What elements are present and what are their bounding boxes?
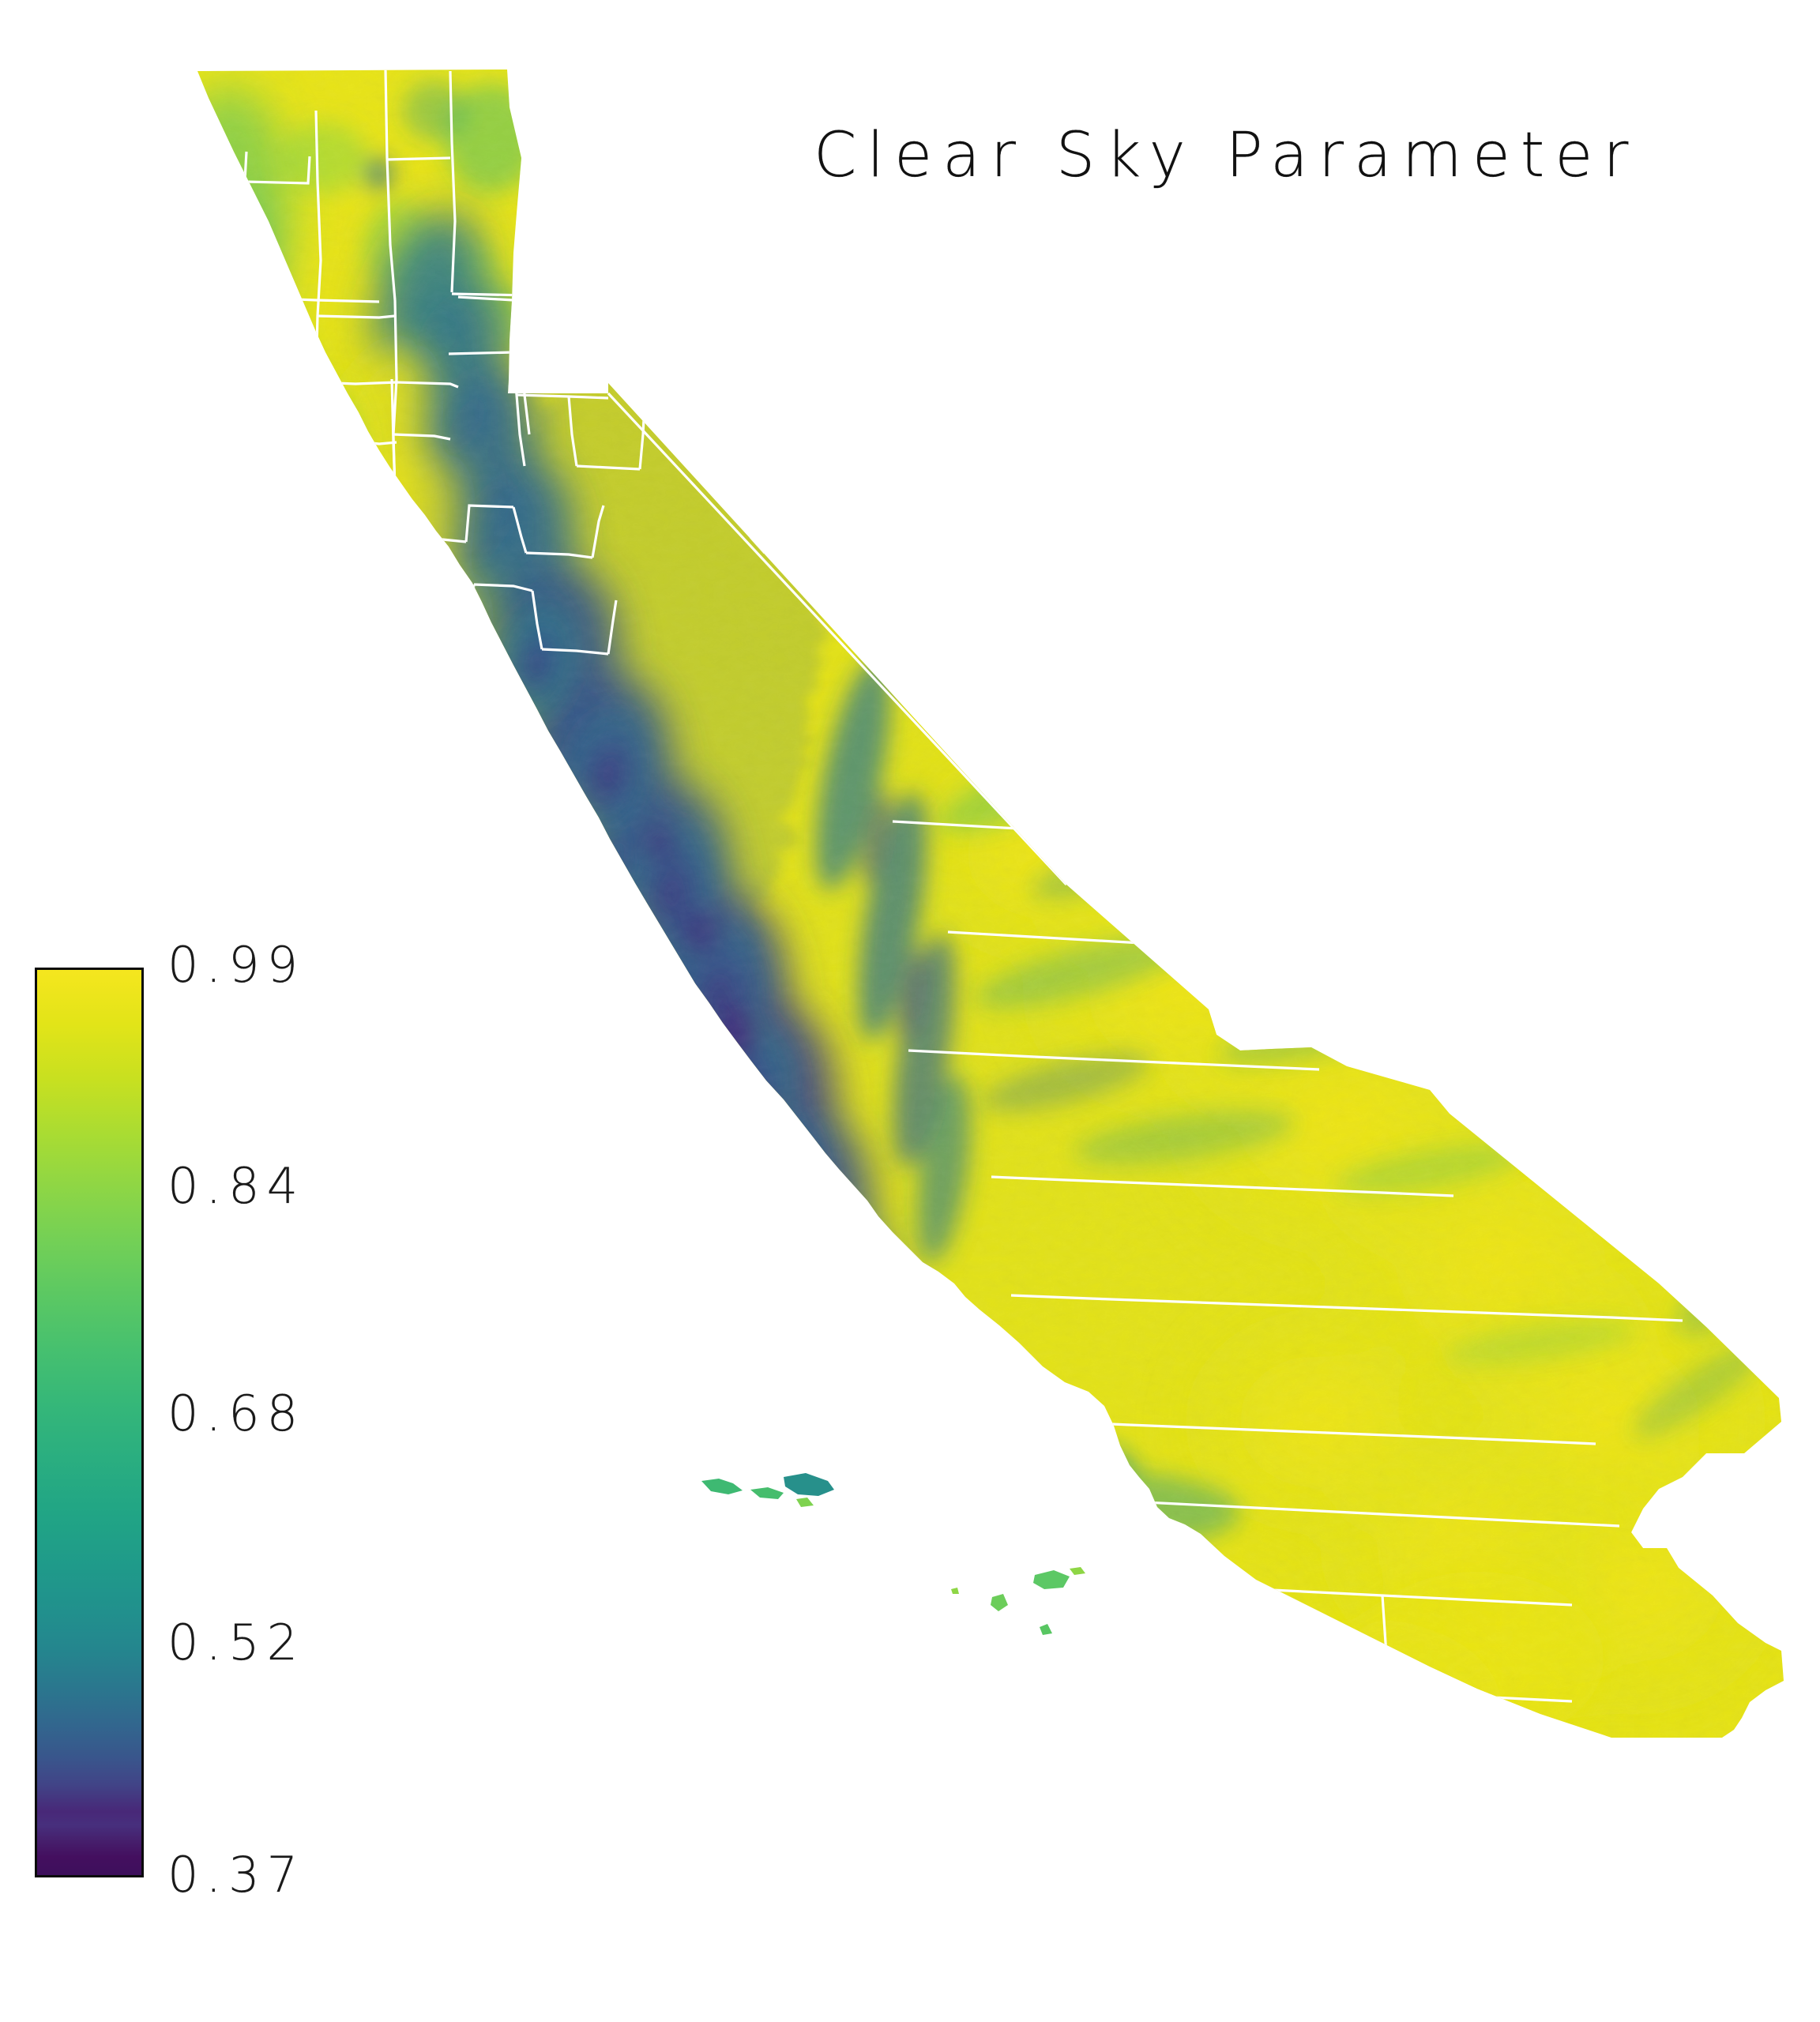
colorbar-gradient-swatch[interactable]: [35, 968, 144, 1877]
colorbar-tick-label-2: 0.68: [167, 1385, 305, 1442]
colorbar-tick-label-3: 0.52: [167, 1614, 305, 1671]
page-title: Clear Sky Parameter: [814, 120, 1638, 191]
california-map[interactable]: [197, 63, 1793, 1896]
colorbar-tick-label-4: 0.37: [167, 1846, 305, 1904]
colorbar-tick-label-0: 0.99: [167, 936, 305, 994]
channel-islands: [701, 1473, 1085, 1635]
colorbar[interactable]: 0.99 0.84 0.68 0.52 0.37: [35, 968, 367, 1884]
colorbar-tick-label-1: 0.84: [167, 1157, 305, 1215]
figure-canvas: Clear Sky Parameter 0.99 0.84 0.68 0.52 …: [0, 0, 1820, 2022]
raster-layer: [197, 63, 1793, 1896]
map-svg: [197, 63, 1793, 1896]
